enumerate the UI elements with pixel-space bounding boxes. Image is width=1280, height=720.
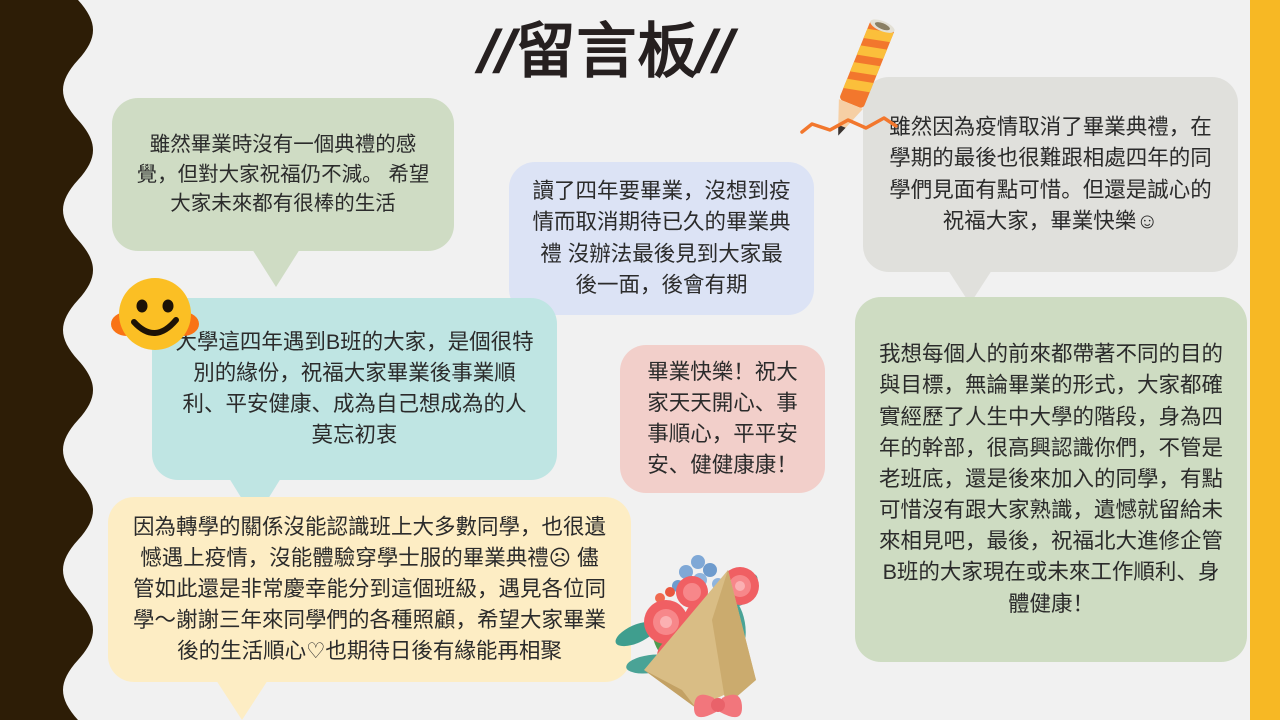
smiley-face-sticker <box>107 266 203 362</box>
message-text: 雖然畢業時沒有一個典禮的感覺，但對大家祝福仍不減。 希望大家未來都有很棒的生活 <box>112 116 454 233</box>
bubble-tail-green-1 <box>252 249 300 287</box>
message-bubble-green-1[interactable]: 雖然畢業時沒有一個典禮的感覺，但對大家祝福仍不減。 希望大家未來都有很棒的生活 <box>112 98 454 251</box>
message-board-slide: //留言板// 雖然畢業時沒有一個典禮的感覺，但對大家祝福仍不減。 希望大家未來… <box>0 0 1280 720</box>
flower-bouquet-sticker <box>600 528 858 720</box>
pencil-icon <box>800 14 910 154</box>
message-text: 讀了四年要畢業，沒想到疫情而取消期待已久的畢業典禮 沒辦法最後見到大家最後一面，… <box>509 162 814 315</box>
page-title-text: //留言板// <box>480 22 734 82</box>
left-wavy-band <box>0 0 110 720</box>
page-title: //留言板// <box>480 22 734 82</box>
message-text: 雖然因為疫情取消了畢業典禮，在學期的最後也很難跟相處四年的同學們見面有點可惜。但… <box>863 98 1238 251</box>
message-text: 畢業快樂！祝大家天天開心、事事順心，平平安安、健健康康！ <box>620 343 825 496</box>
message-bubble-green-2[interactable]: 我想每個人的前來都帶著不同的目的與目標，無論畢業的形式，大家都確實經歷了人生中大… <box>855 297 1247 662</box>
message-bubble-blue[interactable]: 讀了四年要畢業，沒想到疫情而取消期待已久的畢業典禮 沒辦法最後見到大家最後一面，… <box>509 162 814 315</box>
title-main: 留言板 <box>515 18 698 85</box>
message-text: 我想每個人的前來都帶著不同的目的與目標，無論畢業的形式，大家都確實經歷了人生中大… <box>855 325 1247 634</box>
message-bubble-cream[interactable]: 因為轉學的關係沒能認識班上大多數同學，也很遺憾遇上疫情，沒能體驗穿學士服的畢業典… <box>108 497 631 682</box>
bubble-tail-cream <box>216 680 268 720</box>
message-bubble-pink[interactable]: 畢業快樂！祝大家天天開心、事事順心，平平安安、健健康康！ <box>620 345 825 493</box>
message-text: 大學這四年遇到B班的大家，是個很特別的緣份，祝福大家畢業後事業順利、平安健康、成… <box>152 313 557 466</box>
message-text: 因為轉學的關係沒能認識班上大多數同學，也很遺憾遇上疫情，沒能體驗穿學士服的畢業典… <box>108 498 631 682</box>
message-bubble-gray[interactable]: 雖然因為疫情取消了畢業典禮，在學期的最後也很難跟相處四年的同學們見面有點可惜。但… <box>863 77 1238 272</box>
message-bubble-teal[interactable]: 大學這四年遇到B班的大家，是個很特別的緣份，祝福大家畢業後事業順利、平安健康、成… <box>152 298 557 480</box>
right-yellow-bar <box>1250 0 1280 720</box>
bouquet-ribbon <box>694 695 742 717</box>
